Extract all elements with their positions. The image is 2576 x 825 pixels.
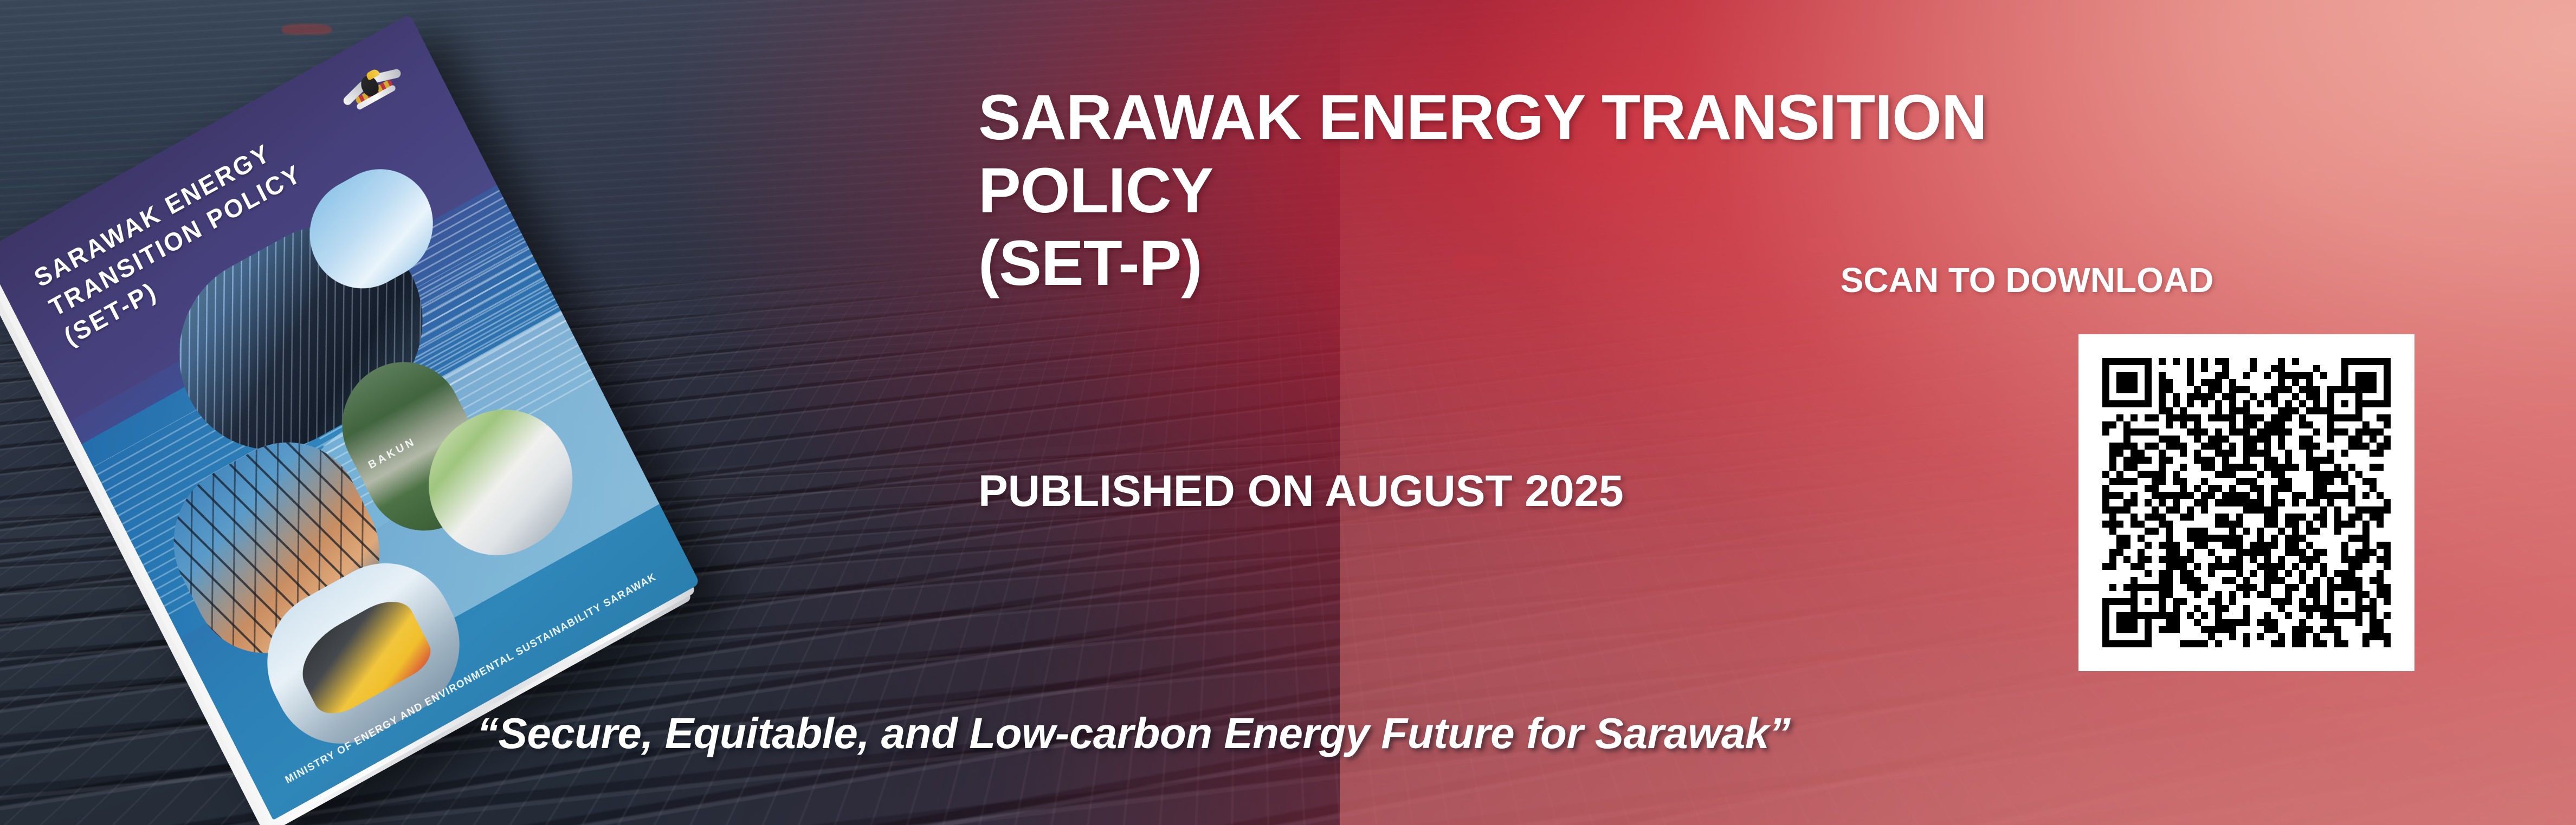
policy-book-mockup: BAKUN SARAWAK ENERGY TRANSITION POLICY [65, 65, 867, 661]
banner-tagline: “Secure, Equitable, and Low-carbon Energ… [477, 709, 1790, 758]
bakun-dam-label: BAKUN [366, 435, 418, 472]
headline-line-1: SARAWAK ENERGY TRANSITION POLICY [978, 81, 2116, 227]
scan-to-download-label: SCAN TO DOWNLOAD [1702, 260, 2352, 300]
qr-code[interactable] [2078, 334, 2414, 671]
set-p-promotional-banner: BAKUN SARAWAK ENERGY TRANSITION POLICY [0, 0, 2576, 825]
publication-date: PUBLISHED ON AUGUST 2025 [978, 466, 1624, 517]
qr-code-matrix [2102, 358, 2391, 647]
